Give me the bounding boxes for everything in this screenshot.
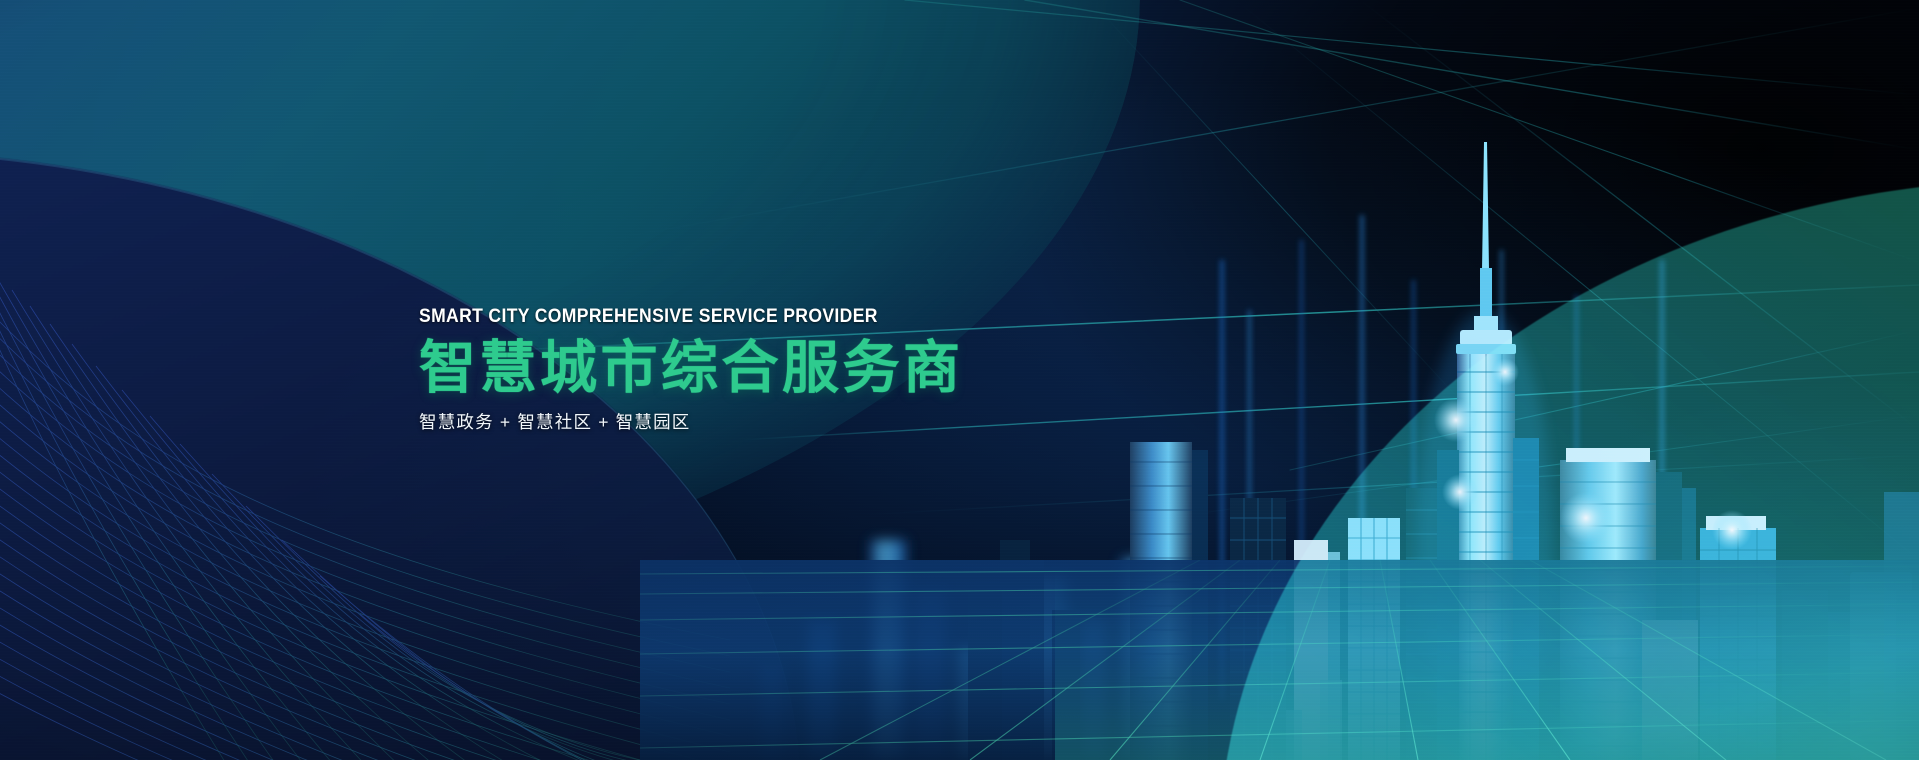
decorative-green-bottom-glow [1055,570,1919,760]
hero-copy-block: SMART CITY COMPREHENSIVE SERVICE PROVIDE… [419,307,964,431]
smart-city-hero-banner: SMART CITY COMPREHENSIVE SERVICE PROVIDE… [0,0,1919,760]
hero-headline-chinese: 智慧城市综合服务商 [419,340,964,397]
hero-tagline-chinese: 智慧政务 + 智慧社区 + 智慧园区 [419,414,964,432]
hero-eyebrow-english: SMART CITY COMPREHENSIVE SERVICE PROVIDE… [419,307,909,327]
